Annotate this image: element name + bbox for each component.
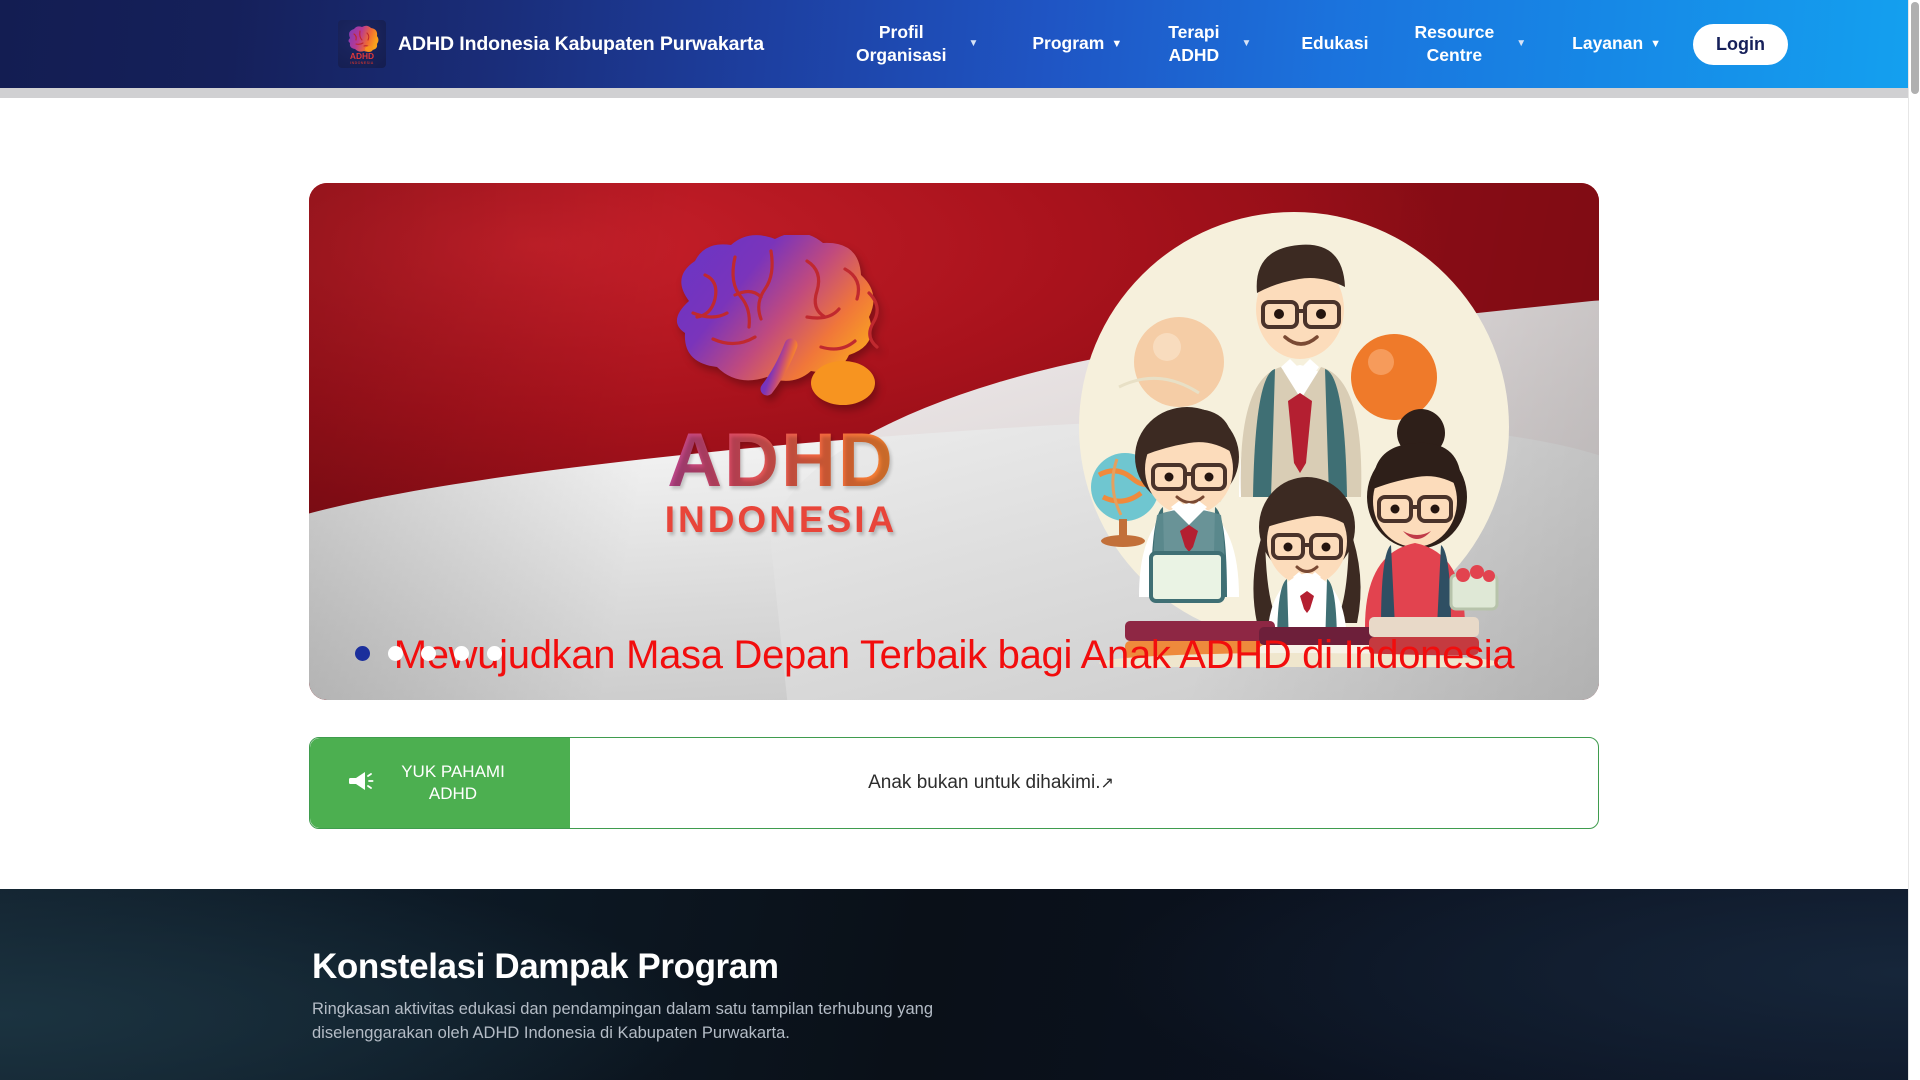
carousel-dot-1[interactable] [355, 646, 370, 661]
carousel-dot-5[interactable] [487, 646, 502, 661]
chevron-down-icon[interactable]: ▼ [1111, 39, 1122, 50]
scrollbar-thumb[interactable] [1911, 2, 1919, 94]
nav-item-layanan[interactable]: Layanan ▼ [1562, 32, 1671, 55]
external-link-arrow-icon: ↗ [1100, 773, 1113, 793]
brand-title: ADHD Indonesia Kabupaten Purwakarta [398, 33, 764, 56]
hero-logo-sub: INDONESIA [611, 499, 951, 541]
impact-section-subtitle: Ringkasan aktivitas edukasi dan pendampi… [312, 997, 952, 1046]
family-illustration [1059, 197, 1529, 667]
hero-logo-word: ADHD [611, 425, 951, 497]
brain-icon [631, 235, 931, 431]
announcement-bar: YUK PAHAMI ADHD Anak bukan untuk dihakim… [309, 737, 1599, 829]
announcement-body[interactable]: Anak bukan untuk dihakimi.↗ [570, 738, 1598, 828]
nav-item-terapi-adhd[interactable]: Terapi ADHD ▼ [1158, 21, 1261, 67]
nav-item-profil-organisasi[interactable]: Profil Organisasi ▼ [846, 21, 988, 67]
nav-label: Program [1032, 32, 1104, 55]
nav-label-line1: Profil [879, 22, 924, 42]
impact-section-title: Konstelasi Dampak Program [312, 947, 1908, 987]
hero-caption: Mewujudkan Masa Depan Terbaik bagi Anak … [309, 633, 1599, 678]
nav-item-edukasi[interactable]: Edukasi [1291, 32, 1378, 55]
megaphone-icon [348, 769, 375, 798]
hero-slide[interactable]: ADHD INDONESIA [309, 183, 1599, 700]
carousel-dot-2[interactable] [388, 646, 403, 661]
carousel-dots [355, 646, 502, 661]
announcement-message: Anak bukan untuk dihakimi. [868, 772, 1100, 794]
announcement-tag[interactable]: YUK PAHAMI ADHD [310, 738, 570, 828]
chevron-down-icon[interactable]: ▼ [1516, 39, 1526, 49]
svg-text:INDONESIA: INDONESIA [350, 61, 374, 65]
carousel-dot-3[interactable] [421, 646, 436, 661]
nav-item-resource-centre[interactable]: Resource Centre ▼ [1404, 21, 1536, 67]
nav-item-program[interactable]: Program ▼ [1022, 32, 1132, 55]
impact-section: Konstelasi Dampak Program Ringkasan akti… [0, 889, 1908, 1080]
announcement-tag-text: YUK PAHAMI ADHD [393, 761, 513, 805]
adhd-brain-logo-icon: ADHD INDONESIA [338, 20, 386, 68]
page-scrollbar[interactable] [1908, 0, 1920, 1080]
tag-line-1: YUK PAHAMI [401, 762, 505, 781]
navbar-bottom-strip [0, 88, 1908, 98]
main-menu: Profil Organisasi ▼ Program ▼ Terapi ADH… [808, 21, 1788, 67]
top-navigation-bar: ADHD INDONESIA ADHD Indonesia Kabupaten … [0, 0, 1908, 88]
nav-label-line1: Resource [1414, 22, 1494, 42]
page-content: ADHD INDONESIA [0, 183, 1908, 1080]
chevron-down-icon[interactable]: ▼ [1241, 39, 1251, 49]
chevron-down-icon[interactable]: ▼ [968, 39, 978, 49]
brand-logo-link[interactable]: ADHD INDONESIA ADHD Indonesia Kabupaten … [338, 20, 764, 68]
hero-brain-logo: ADHD INDONESIA [611, 235, 951, 541]
nav-label: Layanan [1572, 32, 1643, 55]
hero-carousel: ADHD INDONESIA [309, 183, 1599, 700]
carousel-dot-4[interactable] [454, 646, 469, 661]
nav-label-line2: Centre [1427, 45, 1482, 65]
nav-label-line2: ADHD [1169, 45, 1220, 65]
nav-label-line1: Terapi [1168, 22, 1219, 42]
chevron-down-icon[interactable]: ▼ [1650, 39, 1661, 50]
svg-text:ADHD: ADHD [350, 51, 374, 61]
tag-line-2: ADHD [429, 784, 477, 803]
nav-label: Edukasi [1301, 32, 1368, 55]
nav-label-line2: Organisasi [856, 45, 946, 65]
login-button[interactable]: Login [1693, 24, 1788, 65]
